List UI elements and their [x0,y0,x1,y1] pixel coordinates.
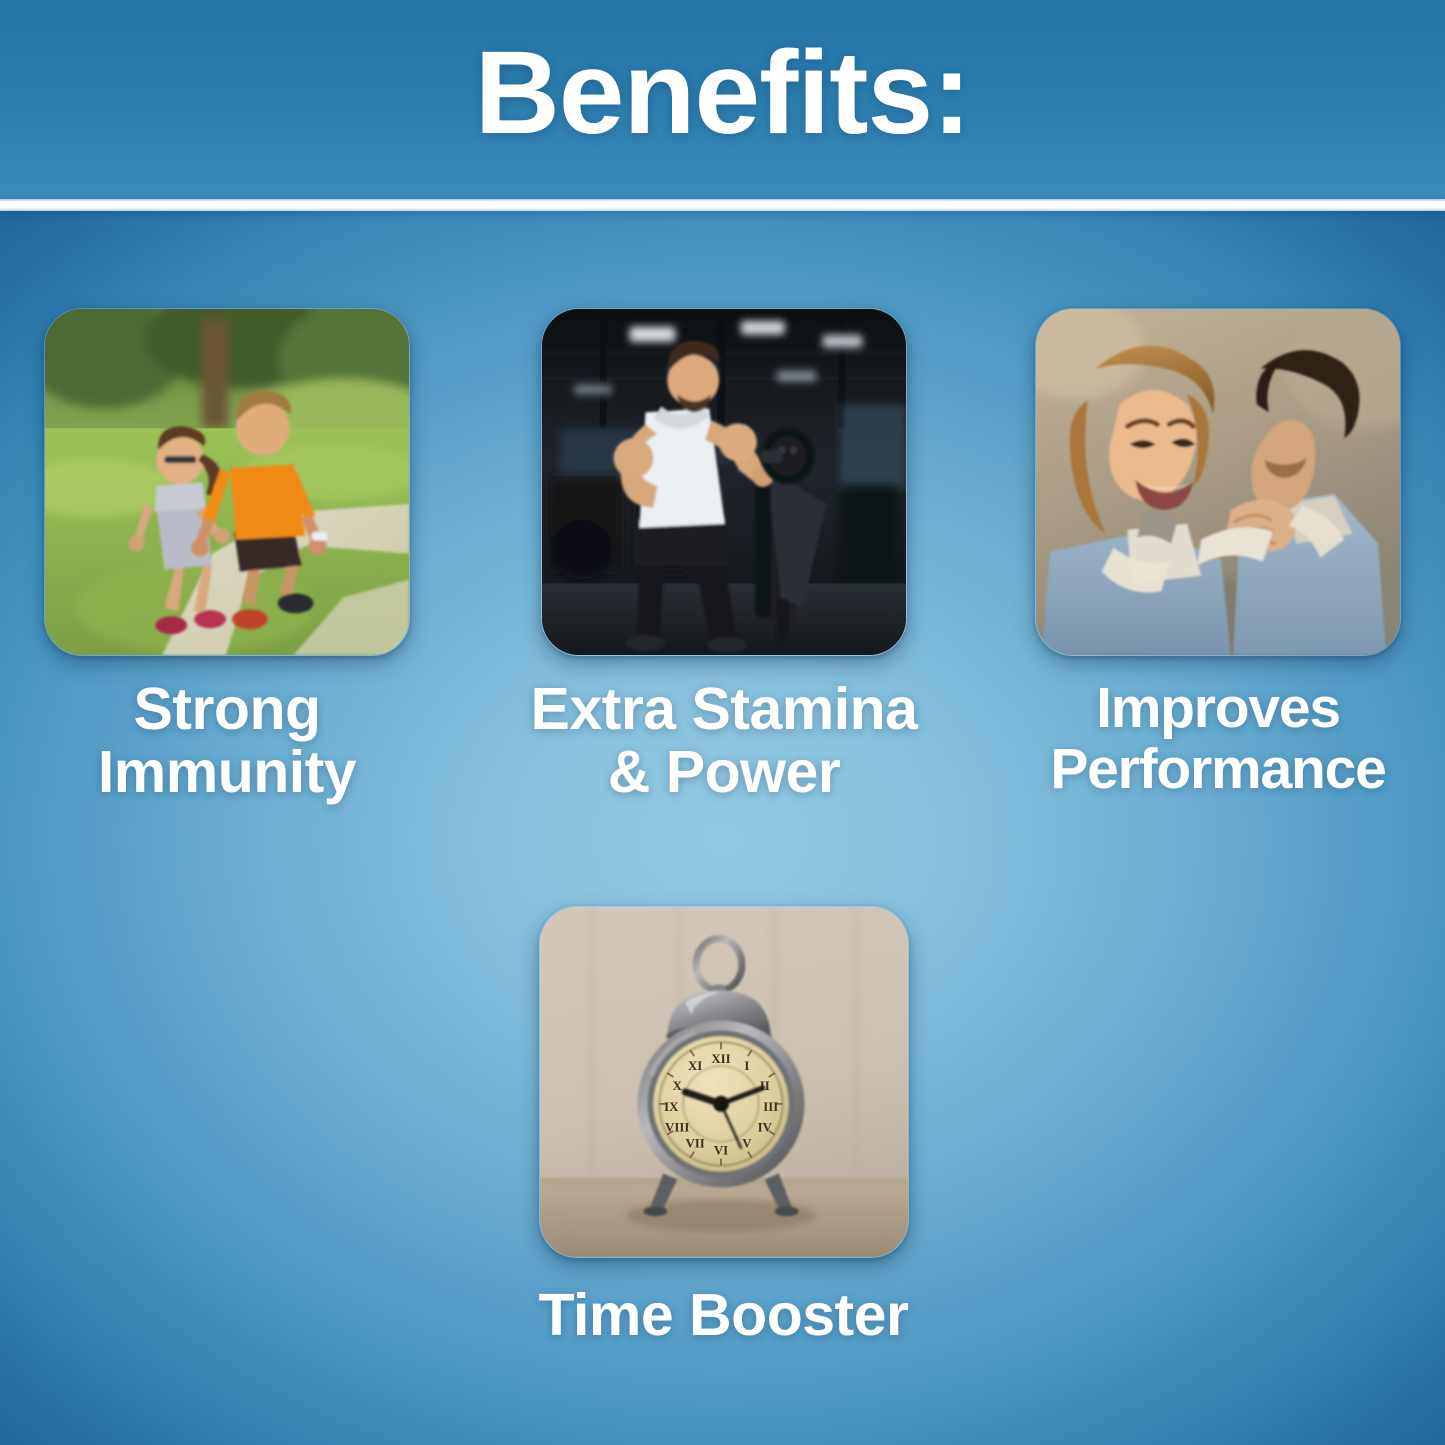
affectionate-couple-in-denim-jackets-photo [1036,309,1400,655]
benefit-thumbnail [44,308,410,656]
benefit-item-strong-immunity: Strong Immunity [27,308,427,804]
benefit-caption: Improves Performance [1050,678,1385,800]
couple-jogging-outdoors-photo [45,309,409,655]
title-divider [0,199,1445,211]
svg-text:VII: VII [685,1136,704,1151]
man-lifting-dumbbell-in-gym-photo [542,309,906,655]
benefit-thumbnail: XII I II III IV V VI VII VIII IX X XI [539,906,909,1258]
svg-text:VIII: VIII [665,1120,689,1135]
benefit-item-improves-performance: Improves Performance [1018,308,1418,800]
svg-text:XII: XII [711,1051,730,1066]
page-title: Benefits: [0,0,1445,200]
benefits-poster: Benefits: [0,0,1445,1445]
svg-text:V: V [742,1136,752,1151]
benefit-thumbnail [1035,308,1401,656]
benefit-thumbnail [541,308,907,656]
svg-text:XI: XI [687,1058,701,1073]
svg-text:I: I [744,1058,749,1073]
benefit-item-time-booster: XII I II III IV V VI VII VIII IX X XI [511,906,936,1347]
svg-text:IX: IX [664,1099,679,1114]
benefit-caption: Time Booster [539,1284,909,1347]
svg-text:X: X [672,1078,682,1093]
benefit-caption: Extra Stamina & Power [531,678,918,804]
benefit-item-extra-stamina-power: Extra Stamina & Power [524,308,924,804]
svg-text:III: III [763,1099,778,1114]
svg-text:VI: VI [713,1143,727,1158]
vintage-alarm-clock-photo: XII I II III IV V VI VII VIII IX X XI [540,907,908,1257]
svg-text:IV: IV [757,1120,772,1135]
benefit-caption: Strong Immunity [98,678,356,804]
